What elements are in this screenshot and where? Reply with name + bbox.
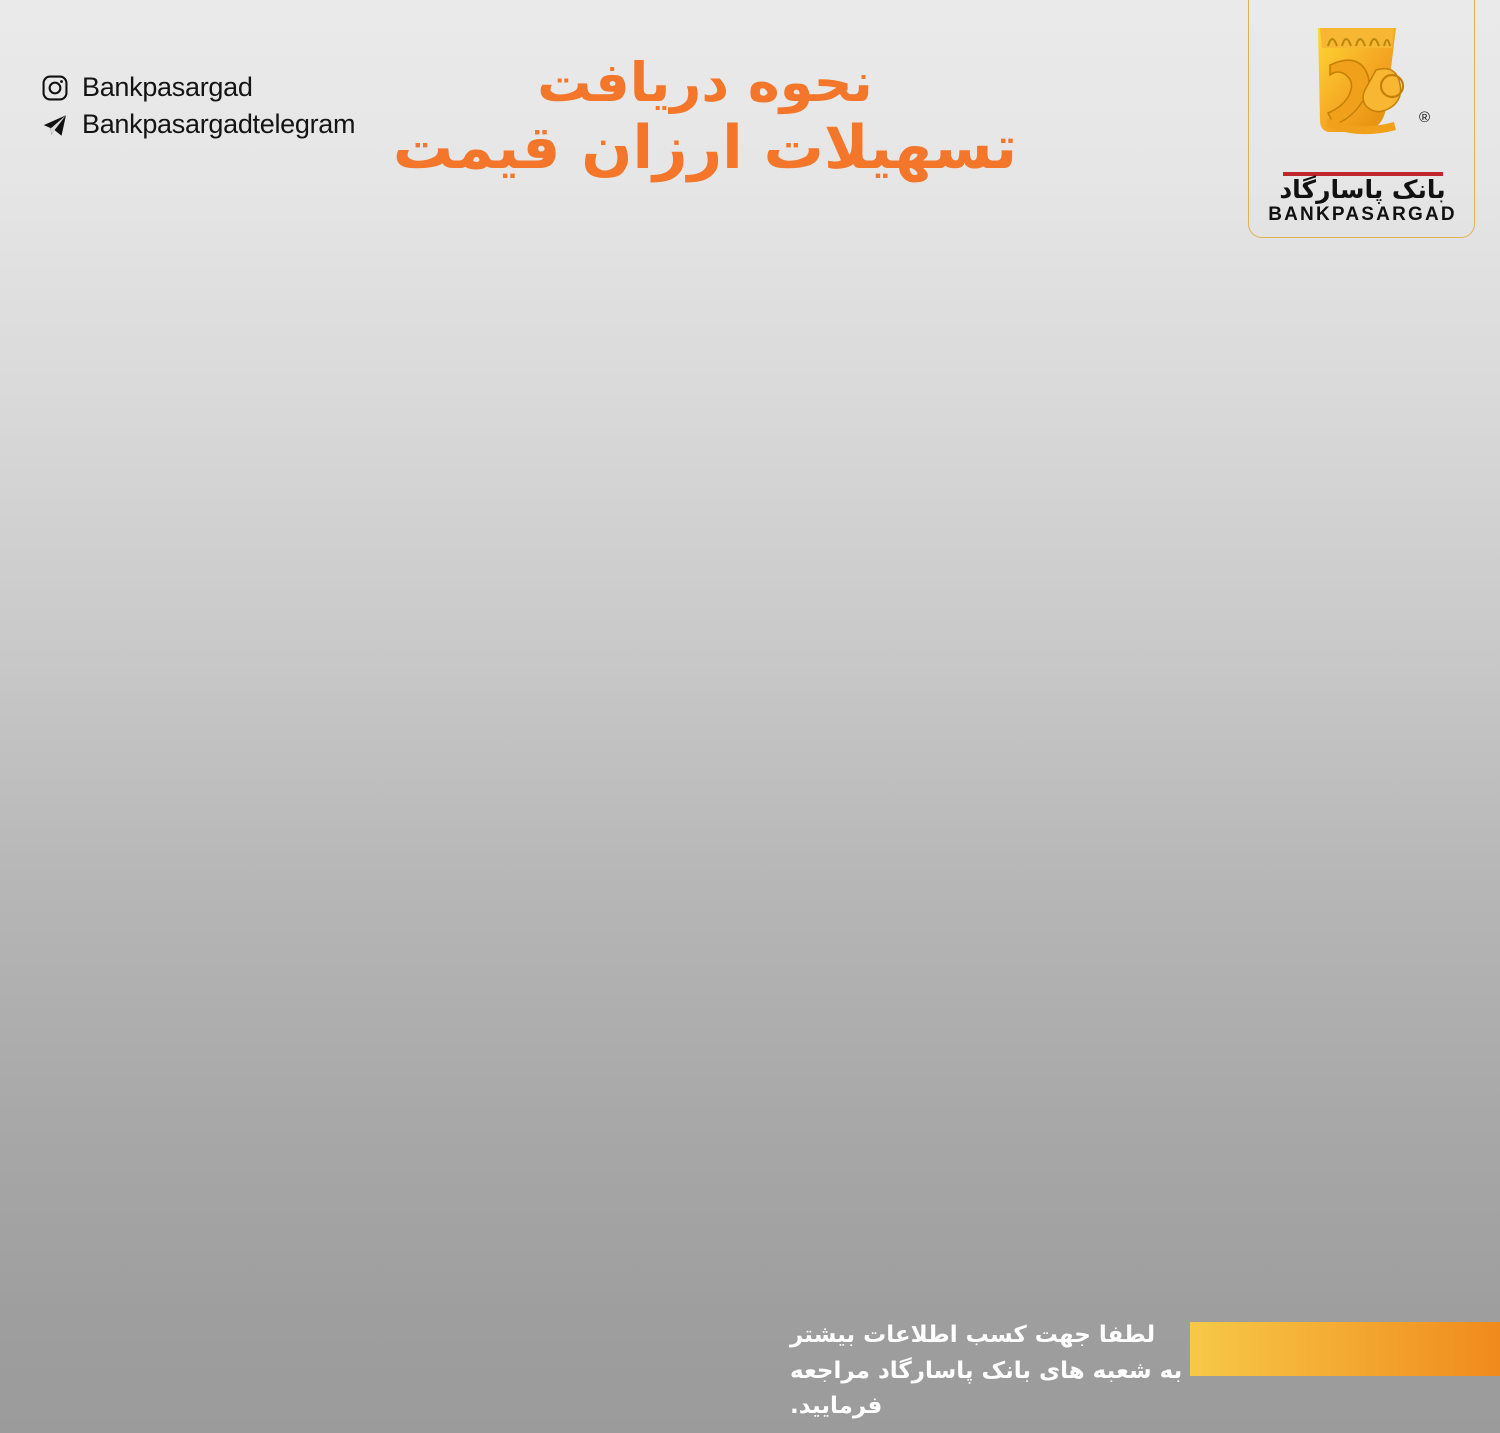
logo-name-en: BANKPASARGAD [1268, 204, 1457, 226]
instagram-handle: Bankpasargad [82, 72, 253, 103]
telegram-handle: Bankpasargadtelegram [82, 109, 355, 140]
footer-accent-bar [1190, 1322, 1500, 1376]
footer-line-1: لطفا جهت کسب اطلاعات بیشتر [790, 1318, 1190, 1354]
telegram-icon [40, 110, 70, 140]
footer-line-2: به شعبه های بانک پاسارگاد مراجعه فرمایید… [790, 1354, 1190, 1425]
pasargad-emblem-icon: ® [1280, 10, 1445, 170]
footer-note: لطفا جهت کسب اطلاعات بیشتر به شعبه های ب… [790, 1318, 1190, 1425]
bank-logo: ® بانک پاسارگاد BANKPASARGAD [1265, 10, 1460, 230]
logo-name-fa: بانک پاسارگاد [1279, 175, 1445, 204]
svg-text:®: ® [1419, 109, 1430, 126]
title-line-1: نحوه دریافت [380, 52, 1030, 114]
infographic-canvas: Bankpasargad Bankpasargadtelegram نحوه د… [0, 0, 1500, 1433]
instagram-icon [40, 73, 70, 103]
page-title: نحوه دریافت تسهیلات ارزان قیمت [380, 52, 1030, 183]
title-line-2: تسهیلات ارزان قیمت [380, 114, 1030, 183]
